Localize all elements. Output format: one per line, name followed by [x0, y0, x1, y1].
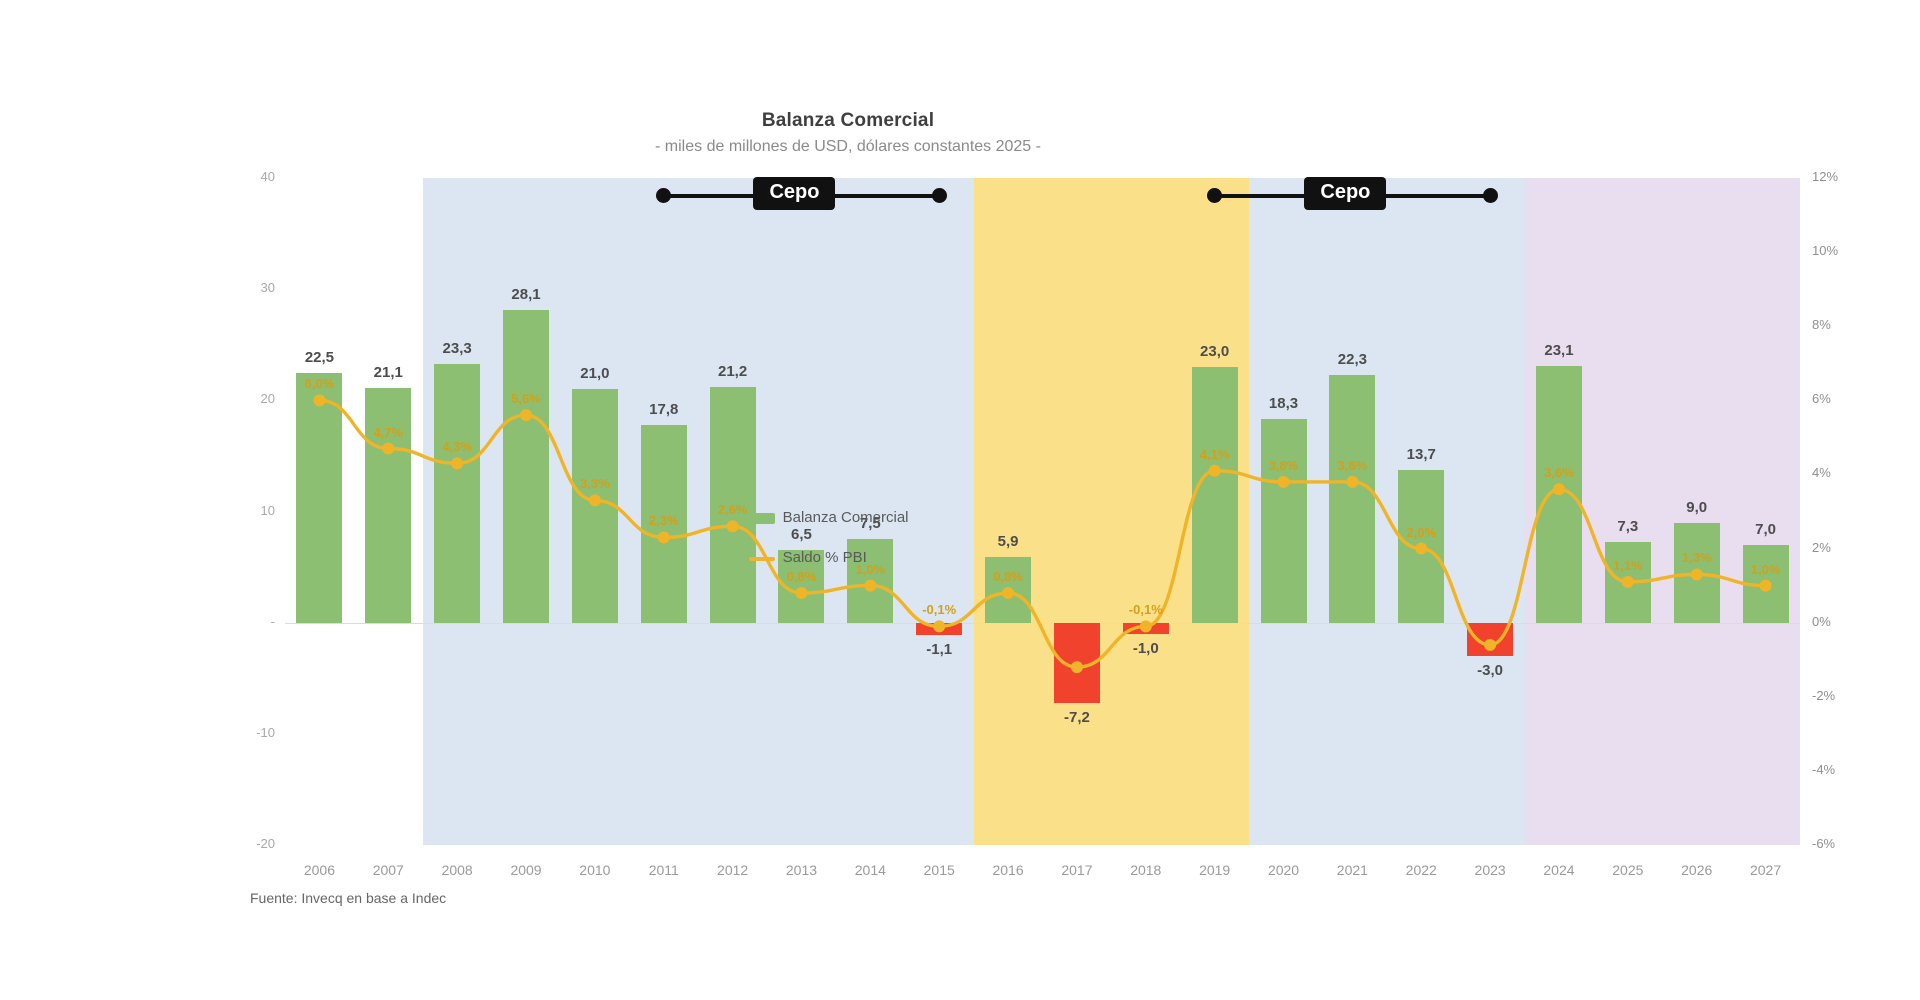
bar-label-2010: 21,0	[540, 365, 650, 382]
line-point-2020[interactable]	[1278, 476, 1290, 488]
line-point-2026[interactable]	[1691, 568, 1703, 580]
bar-label-2008: 23,3	[402, 340, 512, 357]
line-point-2011[interactable]	[658, 531, 670, 543]
chart-root: Balanza Comercial - miles de millones de…	[0, 0, 1920, 1000]
cepo-tag-2: Cepo	[1304, 177, 1386, 210]
line-point-2008[interactable]	[451, 457, 463, 469]
plot-area: 6,0%4,7%4,3%5,6%3,3%2,3%2,6%0,8%1,0%-0,1…	[285, 178, 1800, 845]
y-tick-right-6: 6%	[1812, 391, 1882, 406]
pct-label-2024: 3,6%	[1514, 465, 1604, 480]
cepo-tag-1: Cepo	[753, 177, 835, 210]
bar-label-2026: 9,0	[1642, 499, 1752, 516]
line-point-2023[interactable]	[1484, 639, 1496, 651]
legend-label-balanza-comercial: Balanza Comercial	[783, 509, 909, 526]
line-point-2025[interactable]	[1622, 576, 1634, 588]
y-tick-left-20: 20	[215, 391, 275, 406]
line-point-2010[interactable]	[589, 494, 601, 506]
y-tick-right-12: 12%	[1812, 169, 1882, 184]
line-point-2021[interactable]	[1346, 476, 1358, 488]
bar-label-2019: 23,0	[1160, 343, 1270, 360]
y-tick-right-4: 4%	[1812, 465, 1882, 480]
pct-label-2007: 4,7%	[343, 425, 433, 440]
y-tick-left-10: 10	[215, 503, 275, 518]
pct-label-2008: 4,3%	[412, 439, 502, 454]
line-point-2014[interactable]	[864, 580, 876, 592]
line-point-2012[interactable]	[727, 520, 739, 532]
y-tick-left--10: -10	[215, 725, 275, 740]
line-point-2019[interactable]	[1209, 465, 1221, 477]
line-point-2009[interactable]	[520, 409, 532, 421]
bar-label-2018: -1,0	[1091, 640, 1201, 657]
y-tick-right--4: -4%	[1812, 762, 1882, 777]
y-tick-right--6: -6%	[1812, 836, 1882, 851]
bar-label-2016: 5,9	[953, 533, 1063, 550]
bar-label-2027: 7,0	[1711, 521, 1821, 538]
cepo-endpoint-dot-2-2	[1483, 188, 1498, 203]
y-tick-right-2: 2%	[1812, 540, 1882, 555]
x-tick-2027: 2027	[1721, 862, 1811, 878]
line-series	[285, 178, 1800, 845]
y-tick-right-10: 10%	[1812, 243, 1882, 258]
y-tick-left-40: 40	[215, 169, 275, 184]
y-tick-right-8: 8%	[1812, 317, 1882, 332]
chart-card: Balanza Comercial - miles de millones de…	[100, 0, 1596, 1000]
chart-title: Balanza Comercial	[100, 110, 1596, 132]
source-note: Fuente: Invecq en base a Indec	[250, 890, 446, 906]
pct-label-2009: 5,6%	[481, 391, 571, 406]
pct-label-2010: 3,3%	[550, 476, 640, 491]
bar-label-2007: 21,1	[333, 364, 443, 381]
legend-swatch-balanza	[749, 513, 775, 524]
bar-label-2009: 28,1	[471, 286, 581, 303]
bar-label-2017: -7,2	[1022, 709, 1132, 726]
bar-label-2022: 13,7	[1366, 446, 1476, 463]
line-point-2022[interactable]	[1415, 543, 1427, 555]
line-point-2024[interactable]	[1553, 483, 1565, 495]
line-point-2018[interactable]	[1140, 620, 1152, 632]
bar-label-2024: 23,1	[1504, 342, 1614, 359]
y-tick-left-0: -	[215, 614, 275, 629]
bar-label-2015: -1,1	[884, 641, 994, 658]
bar-label-2012: 21,2	[678, 363, 788, 380]
line-point-2007[interactable]	[382, 443, 394, 455]
line-point-2013[interactable]	[795, 587, 807, 599]
bar-label-2020: 18,3	[1229, 395, 1339, 412]
line-point-2017[interactable]	[1071, 661, 1083, 673]
line-point-2027[interactable]	[1760, 580, 1772, 592]
y-tick-left--20: -20	[215, 836, 275, 851]
pct-label-2015: -0,1%	[894, 602, 984, 617]
line-point-2006[interactable]	[313, 394, 325, 406]
chart-subtitle: - miles de millones de USD, dólares cons…	[100, 138, 1596, 156]
y-tick-right-0: 0%	[1812, 614, 1882, 629]
y-tick-right--2: -2%	[1812, 688, 1882, 703]
line-point-2016[interactable]	[1002, 587, 1014, 599]
bar-label-2023: -3,0	[1435, 662, 1545, 679]
line-point-2015[interactable]	[933, 620, 945, 632]
y-tick-left-30: 30	[215, 280, 275, 295]
legend-label-saldo-pbi: Saldo % PBI	[783, 549, 867, 566]
bar-label-2011: 17,8	[609, 401, 719, 418]
bar-label-2021: 22,3	[1297, 351, 1407, 368]
legend-swatch-saldo	[749, 557, 775, 561]
bar-label-2025: 7,3	[1573, 518, 1683, 535]
pct-label-2016: 0,8%	[963, 569, 1053, 584]
cepo-endpoint-dot-1-2	[932, 188, 947, 203]
pct-label-2018: -0,1%	[1101, 602, 1191, 617]
bar-label-2006: 22,5	[264, 349, 374, 366]
pct-label-2027: 1,0%	[1721, 562, 1811, 577]
pct-label-2022: 2,0%	[1376, 525, 1466, 540]
